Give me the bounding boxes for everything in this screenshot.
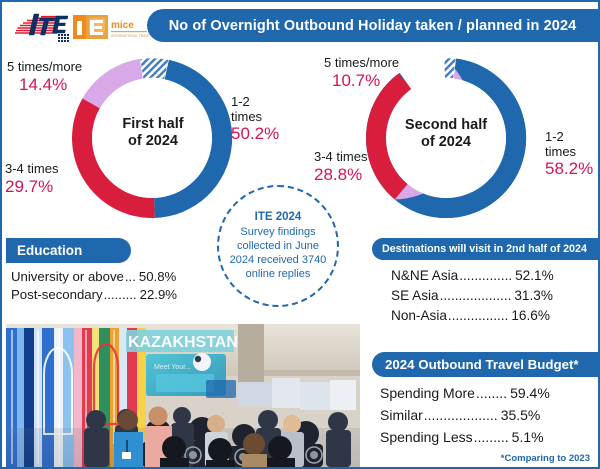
row-label: N&NE Asia	[391, 268, 458, 283]
label-5-times-more-left: 5 times/more 14.4%	[7, 60, 82, 94]
row-dots: ..............	[459, 268, 512, 283]
row-dots: ...................	[440, 288, 512, 303]
list-item: Spending Less ......... 5.1%	[380, 429, 550, 445]
survey-note-bubble: ITE 2024 Survey findings collected in Ju…	[217, 185, 339, 307]
bubble-line-2: collected in June	[237, 240, 319, 252]
row-label: Similar	[380, 407, 423, 423]
list-item: University or above ... 50.8%	[11, 269, 177, 284]
row-value: 22.9%	[140, 287, 177, 302]
row-dots: ...................	[424, 407, 498, 423]
row-dots: .........	[104, 287, 137, 302]
bubble-title: ITE 2024	[255, 211, 302, 223]
svg-text:INTERNATIONAL TRAVEL EXPO: INTERNATIONAL TRAVEL EXPO	[111, 34, 150, 38]
photo-illustration: KAZAKHSTAN Meet Your...	[6, 324, 360, 467]
bubble-line-3: 2024 received 3740	[230, 254, 327, 266]
budget-heading: 2024 Outbound Travel Budget*	[385, 357, 579, 372]
label-3-4-times-right: 3-4 times 28.8%	[314, 150, 367, 184]
row-dots: ................	[448, 308, 508, 323]
row-value: 5.1%	[512, 429, 544, 445]
svg-text:KAZAKHSTAN: KAZAKHSTAN	[128, 334, 238, 351]
title-banner: No of Overnight Outbound Holiday taken /…	[147, 9, 598, 42]
row-value: 52.1%	[515, 268, 554, 283]
bubble-line-4: online replies	[246, 268, 311, 280]
row-value: 59.4%	[510, 385, 550, 401]
destinations-heading: Destinations will visit in 2nd half of 2…	[382, 243, 587, 255]
donut-center-label-first-half: First half of 2024	[110, 116, 196, 149]
row-dots: ...	[125, 269, 136, 284]
page-title: No of Overnight Outbound Holiday taken /…	[169, 18, 577, 34]
row-dots: ........	[476, 385, 507, 401]
row-value: 50.8%	[139, 269, 176, 284]
list-item: N&NE Asia .............. 52.1%	[391, 268, 554, 283]
list-item: Post-secondary ......... 22.9%	[11, 287, 177, 302]
bubble-line-1: Survey findings	[240, 226, 315, 238]
row-label: SE Asia	[391, 288, 439, 303]
exhibition-photo: KAZAKHSTAN Meet Your...	[6, 324, 360, 467]
row-label: Spending Less	[380, 429, 473, 445]
list-item: Similar ................... 35.5%	[380, 407, 550, 423]
row-value: 31.3%	[514, 288, 553, 303]
list-item: Non-Asia ................ 16.6%	[391, 308, 554, 323]
logo-group: mice INTERNATIONAL TRAVEL EXPO	[10, 8, 150, 46]
infographic-root: mice INTERNATIONAL TRAVEL EXPO No of Ove…	[0, 0, 600, 469]
list-item: Spending More ........ 59.4%	[380, 385, 550, 401]
list-item: SE Asia ................... 31.3%	[391, 288, 554, 303]
row-value: 16.6%	[511, 308, 550, 323]
budget-heading-pill: 2024 Outbound Travel Budget*	[372, 352, 598, 377]
donut-center-label-second-half: Second half of 2024	[398, 117, 494, 150]
itemice-logo: mice INTERNATIONAL TRAVEL EXPO	[72, 13, 150, 41]
row-label: University or above	[11, 269, 124, 284]
donut-chart-second-half: Second half of 2024 5 times/more 10.7% 3…	[298, 46, 598, 231]
svg-text:Meet Your...: Meet Your...	[154, 364, 191, 371]
row-dots: .........	[474, 429, 509, 445]
header: mice INTERNATIONAL TRAVEL EXPO No of Ove…	[2, 2, 598, 49]
education-list: University or above ... 50.8% Post-secon…	[11, 269, 177, 305]
destinations-heading-pill: Destinations will visit in 2nd half of 2…	[372, 238, 598, 260]
destinations-list: N&NE Asia .............. 52.1% SE Asia .…	[391, 268, 554, 328]
svg-text:mice: mice	[111, 20, 134, 31]
budget-footnote: *Comparing to 2023	[501, 453, 590, 464]
label-1-2-times-right: 1-2 times 58.2%	[545, 130, 593, 179]
education-heading: Education	[17, 243, 82, 258]
label-1-2-times-left: 1-2 times 50.2%	[231, 95, 279, 144]
row-label: Spending More	[380, 385, 475, 401]
row-value: 35.5%	[501, 407, 541, 423]
label-5-times-more-right: 5 times/more 10.7%	[324, 56, 399, 90]
label-3-4-times-left: 3-4 times 29.7%	[5, 162, 58, 196]
budget-list: Spending More ........ 59.4% Similar ...…	[380, 385, 550, 451]
row-label: Non-Asia	[391, 308, 447, 323]
education-heading-pill: Education	[6, 238, 131, 263]
row-label: Post-secondary	[11, 287, 103, 302]
ite-logo	[12, 10, 74, 44]
